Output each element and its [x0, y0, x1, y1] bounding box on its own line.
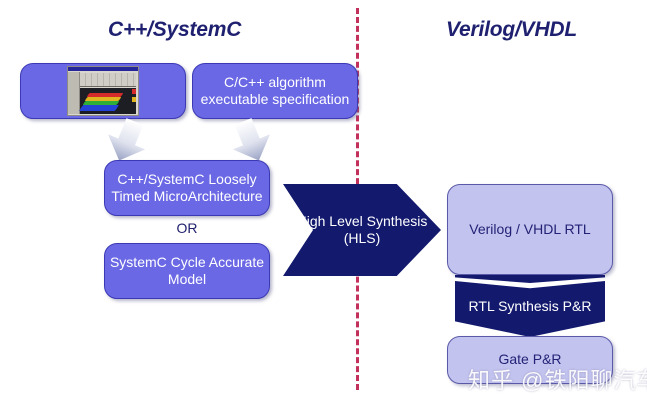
gate-pr-label: Gate P&R — [498, 351, 561, 368]
verilog-vhdl-rtl-label: Verilog / VHDL RTL — [469, 221, 590, 238]
microarchitecture-label: C++/SystemC Loosely Timed MicroArchitect… — [105, 171, 269, 205]
rtl-synthesis-label: RTL Synthesis P&R — [469, 298, 592, 315]
hls-arrow-label: High Level Synthesis (HLS) — [283, 213, 441, 248]
column-heading-right: Verilog/VHDL — [446, 18, 577, 42]
cycle-accurate-model-box: SystemC Cycle Accurate Model — [104, 243, 270, 299]
verilog-vhdl-rtl-box: Verilog / VHDL RTL — [447, 184, 613, 275]
algorithm-spec-box: C/C++ algorithm executable specification — [192, 63, 358, 119]
gate-pr-box: Gate P&R — [447, 336, 613, 384]
or-separator-label: OR — [104, 220, 270, 236]
algorithm-spec-label: C/C++ algorithm executable specification — [193, 74, 357, 108]
hls-arrow: High Level Synthesis (HLS) — [283, 184, 441, 276]
cycle-accurate-model-label: SystemC Cycle Accurate Model — [105, 254, 269, 288]
column-heading-left: C++/SystemC — [108, 18, 241, 42]
waveform-viewer-thumbnail-icon — [67, 66, 139, 116]
microarchitecture-box: C++/SystemC Loosely Timed MicroArchitect… — [104, 160, 270, 216]
rtl-synthesis-arrow: RTL Synthesis P&R — [455, 281, 605, 337]
rtl-arrow-connector — [455, 275, 605, 283]
waveform-viewer-box — [20, 63, 186, 119]
diagram-canvas: C++/SystemC Verilog/VHDL C/C++ algorithm… — [0, 0, 647, 404]
